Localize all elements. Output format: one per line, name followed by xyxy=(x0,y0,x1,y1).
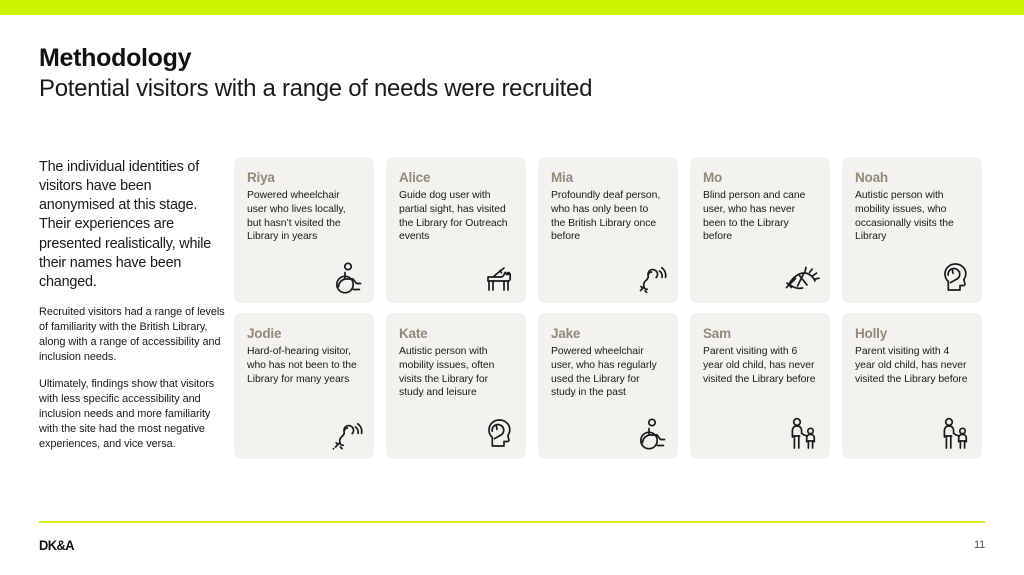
lead-paragraph: The individual identities of visitors ha… xyxy=(39,158,226,292)
neurodiverse-head-icon xyxy=(478,413,516,451)
persona-name: Riya xyxy=(247,171,361,186)
persona-description: Autistic person with mobility issues, wh… xyxy=(855,189,969,244)
persona-name: Holly xyxy=(855,327,969,342)
persona-card[interactable]: HollyParent visiting with 4 year old chi… xyxy=(842,313,982,459)
persona-name: Sam xyxy=(703,327,817,342)
persona-card[interactable]: MoBlind person and cane user, who has ne… xyxy=(690,157,830,303)
persona-name: Alice xyxy=(399,171,513,186)
persona-card-grid: RiyaPowered wheelchair user who lives lo… xyxy=(234,157,986,459)
page-number: 11 xyxy=(974,539,985,551)
page-header: Methodology Potential visitors with a ra… xyxy=(39,44,592,104)
powered-wheelchair-icon xyxy=(326,257,364,295)
neurodiverse-head-icon xyxy=(934,257,972,295)
persona-card[interactable]: JodieHard-of-hearing visitor, who has no… xyxy=(234,313,374,459)
page-subtitle: Potential visitors with a range of needs… xyxy=(39,75,592,104)
slide-methodology: Methodology Potential visitors with a ra… xyxy=(0,0,1024,575)
page-title: Methodology xyxy=(39,44,592,72)
persona-description: Guide dog user with partial sight, has v… xyxy=(399,189,513,244)
hard-of-hearing-icon xyxy=(326,413,364,451)
persona-description: Profoundly deaf person, who has only bee… xyxy=(551,189,665,244)
persona-name: Kate xyxy=(399,327,513,342)
footer-divider xyxy=(39,521,985,523)
persona-card[interactable]: RiyaPowered wheelchair user who lives lo… xyxy=(234,157,374,303)
persona-description: Powered wheelchair user who lives locall… xyxy=(247,189,361,244)
parent-child-icon xyxy=(782,413,820,451)
persona-card[interactable]: NoahAutistic person with mobility issues… xyxy=(842,157,982,303)
persona-description: Parent visiting with 4 year old child, h… xyxy=(855,345,969,386)
persona-name: Jake xyxy=(551,327,665,342)
persona-description: Blind person and cane user, who has neve… xyxy=(703,189,817,244)
persona-description: Autistic person with mobility issues, of… xyxy=(399,345,513,400)
left-text-column: The individual identities of visitors ha… xyxy=(39,158,226,452)
guide-dog-icon xyxy=(478,257,516,295)
brand-logo: DK&A xyxy=(39,537,74,553)
persona-name: Jodie xyxy=(247,327,361,342)
body-paragraph-2: Ultimately, findings show that visitors … xyxy=(39,377,226,451)
accent-top-bar xyxy=(0,0,1024,15)
body-paragraph-1: Recruited visitors had a range of levels… xyxy=(39,305,226,364)
persona-name: Mo xyxy=(703,171,817,186)
persona-description: Hard-of-hearing visitor, who has not bee… xyxy=(247,345,361,386)
parent-child-icon xyxy=(934,413,972,451)
persona-card[interactable]: KateAutistic person with mobility issues… xyxy=(386,313,526,459)
persona-description: Powered wheelchair user, who has regular… xyxy=(551,345,665,400)
blind-eye-icon xyxy=(782,257,820,295)
persona-name: Mia xyxy=(551,171,665,186)
persona-card[interactable]: SamParent visiting with 6 year old child… xyxy=(690,313,830,459)
persona-name: Noah xyxy=(855,171,969,186)
deaf-ear-icon xyxy=(630,257,668,295)
persona-description: Parent visiting with 6 year old child, h… xyxy=(703,345,817,386)
persona-card[interactable]: MiaProfoundly deaf person, who has only … xyxy=(538,157,678,303)
persona-card[interactable]: AliceGuide dog user with partial sight, … xyxy=(386,157,526,303)
powered-wheelchair-icon xyxy=(630,413,668,451)
persona-card[interactable]: JakePowered wheelchair user, who has reg… xyxy=(538,313,678,459)
